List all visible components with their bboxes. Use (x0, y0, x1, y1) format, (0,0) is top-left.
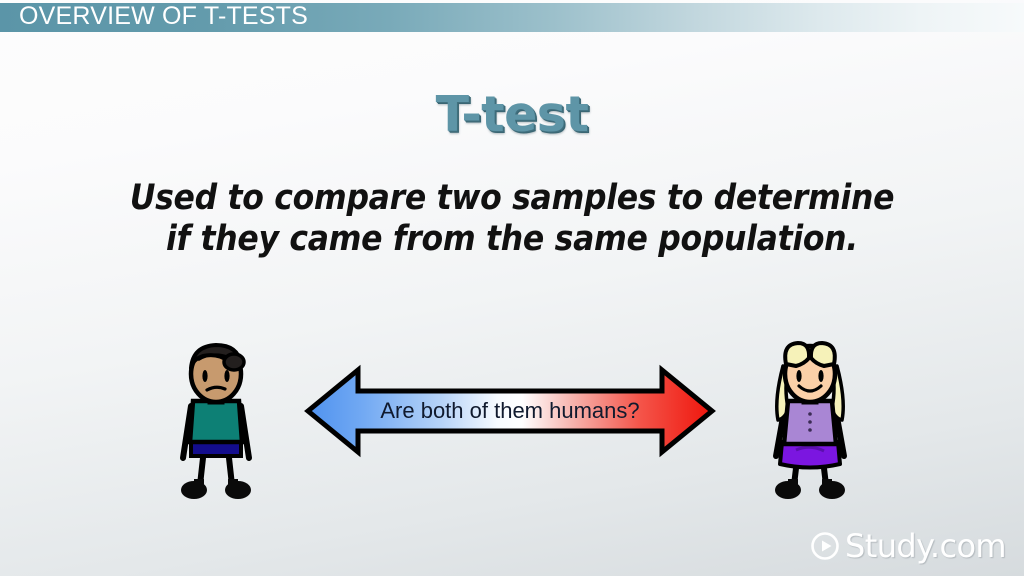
body-line-1: Used to compare two samples to determine (0, 178, 1024, 219)
double-arrow-icon (296, 360, 724, 462)
body-description: Used to compare two samples to determine… (0, 178, 1024, 260)
header-title: OVERVIEW OF T-TESTS (19, 0, 308, 32)
stick-figure-left (158, 338, 274, 510)
watermark-text: Study.com (845, 530, 1006, 562)
play-circle-icon (810, 531, 840, 561)
slide-canvas: OVERVIEW OF T-TESTS T-test Used to compa… (0, 0, 1024, 576)
watermark: Study.com (810, 530, 1006, 562)
person-blonde-hair-icon (752, 338, 868, 510)
page-title: T-test (0, 86, 1024, 143)
stick-figure-right (752, 338, 868, 510)
double-headed-arrow: Are both of them humans? (296, 360, 724, 462)
person-dark-hair-icon (158, 338, 274, 510)
body-line-2: if they came from the same population. (0, 219, 1024, 260)
